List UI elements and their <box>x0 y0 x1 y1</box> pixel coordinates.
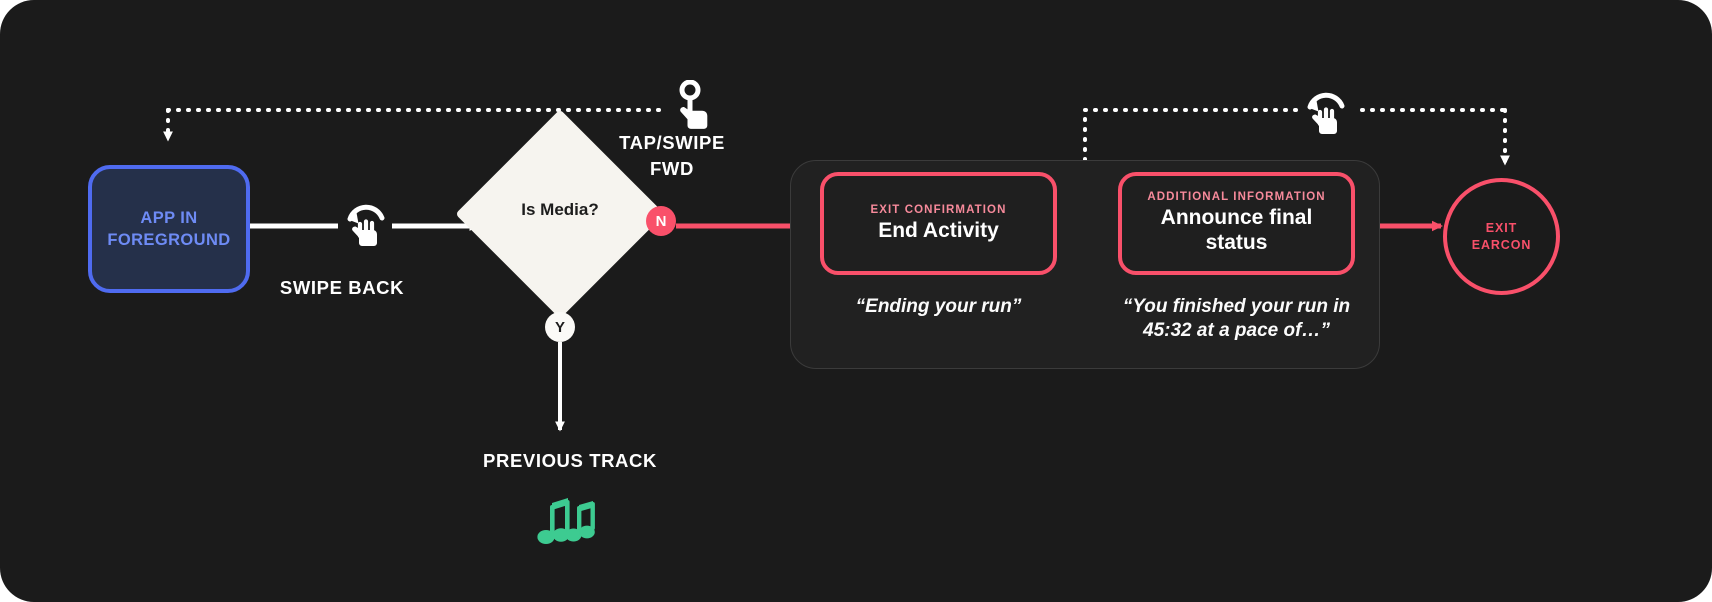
wire-feedback-right <box>1085 110 1505 164</box>
card-additional-information[interactable]: ADDITIONAL INFORMATION Announce final st… <box>1118 172 1355 275</box>
tap-gesture-icon <box>668 80 718 136</box>
card-info-title: Announce final status <box>1136 206 1337 256</box>
earcon-line2: EARCON <box>1472 238 1532 252</box>
quote-exit-confirmation: “Ending your run” <box>800 295 1077 319</box>
label-swipe-back: SWIPE BACK <box>222 277 462 299</box>
earcon-line1: EXIT <box>1486 221 1517 235</box>
app-node-line1: APP IN <box>140 209 197 227</box>
label-tap-swipe-fwd: TAP/SWIPE FWD <box>582 130 762 183</box>
swipe-back-gesture-icon <box>340 202 392 252</box>
decision-label: Is Media? <box>446 200 674 220</box>
label-tap-swipe-line2: FWD <box>650 158 694 179</box>
card-info-kicker: ADDITIONAL INFORMATION <box>1147 191 1325 203</box>
node-exit-earcon[interactable]: EXIT EARCON <box>1443 178 1560 295</box>
card-exit-confirmation[interactable]: EXIT CONFIRMATION End Activity <box>820 172 1057 275</box>
branch-badge-no: N <box>646 206 676 236</box>
earcon-label: EXIT EARCON <box>1472 220 1532 254</box>
music-notes-icon <box>535 495 599 557</box>
diagram-canvas: APP IN FOREGROUND Is Media? N Y EXIT CON… <box>0 0 1712 602</box>
branch-badge-yes: Y <box>545 312 575 342</box>
app-node-label: APP IN FOREGROUND <box>107 207 230 252</box>
card-exit-title: End Activity <box>878 219 999 244</box>
quote-additional-information: “You finished your run in 45:32 at a pac… <box>1098 295 1375 343</box>
swipe-back-gesture-icon <box>1300 90 1352 140</box>
card-exit-kicker: EXIT CONFIRMATION <box>870 204 1006 216</box>
app-node-line2: FOREGROUND <box>107 231 230 249</box>
label-previous-track: PREVIOUS TRACK <box>420 450 720 472</box>
node-app-in-foreground[interactable]: APP IN FOREGROUND <box>88 165 250 293</box>
